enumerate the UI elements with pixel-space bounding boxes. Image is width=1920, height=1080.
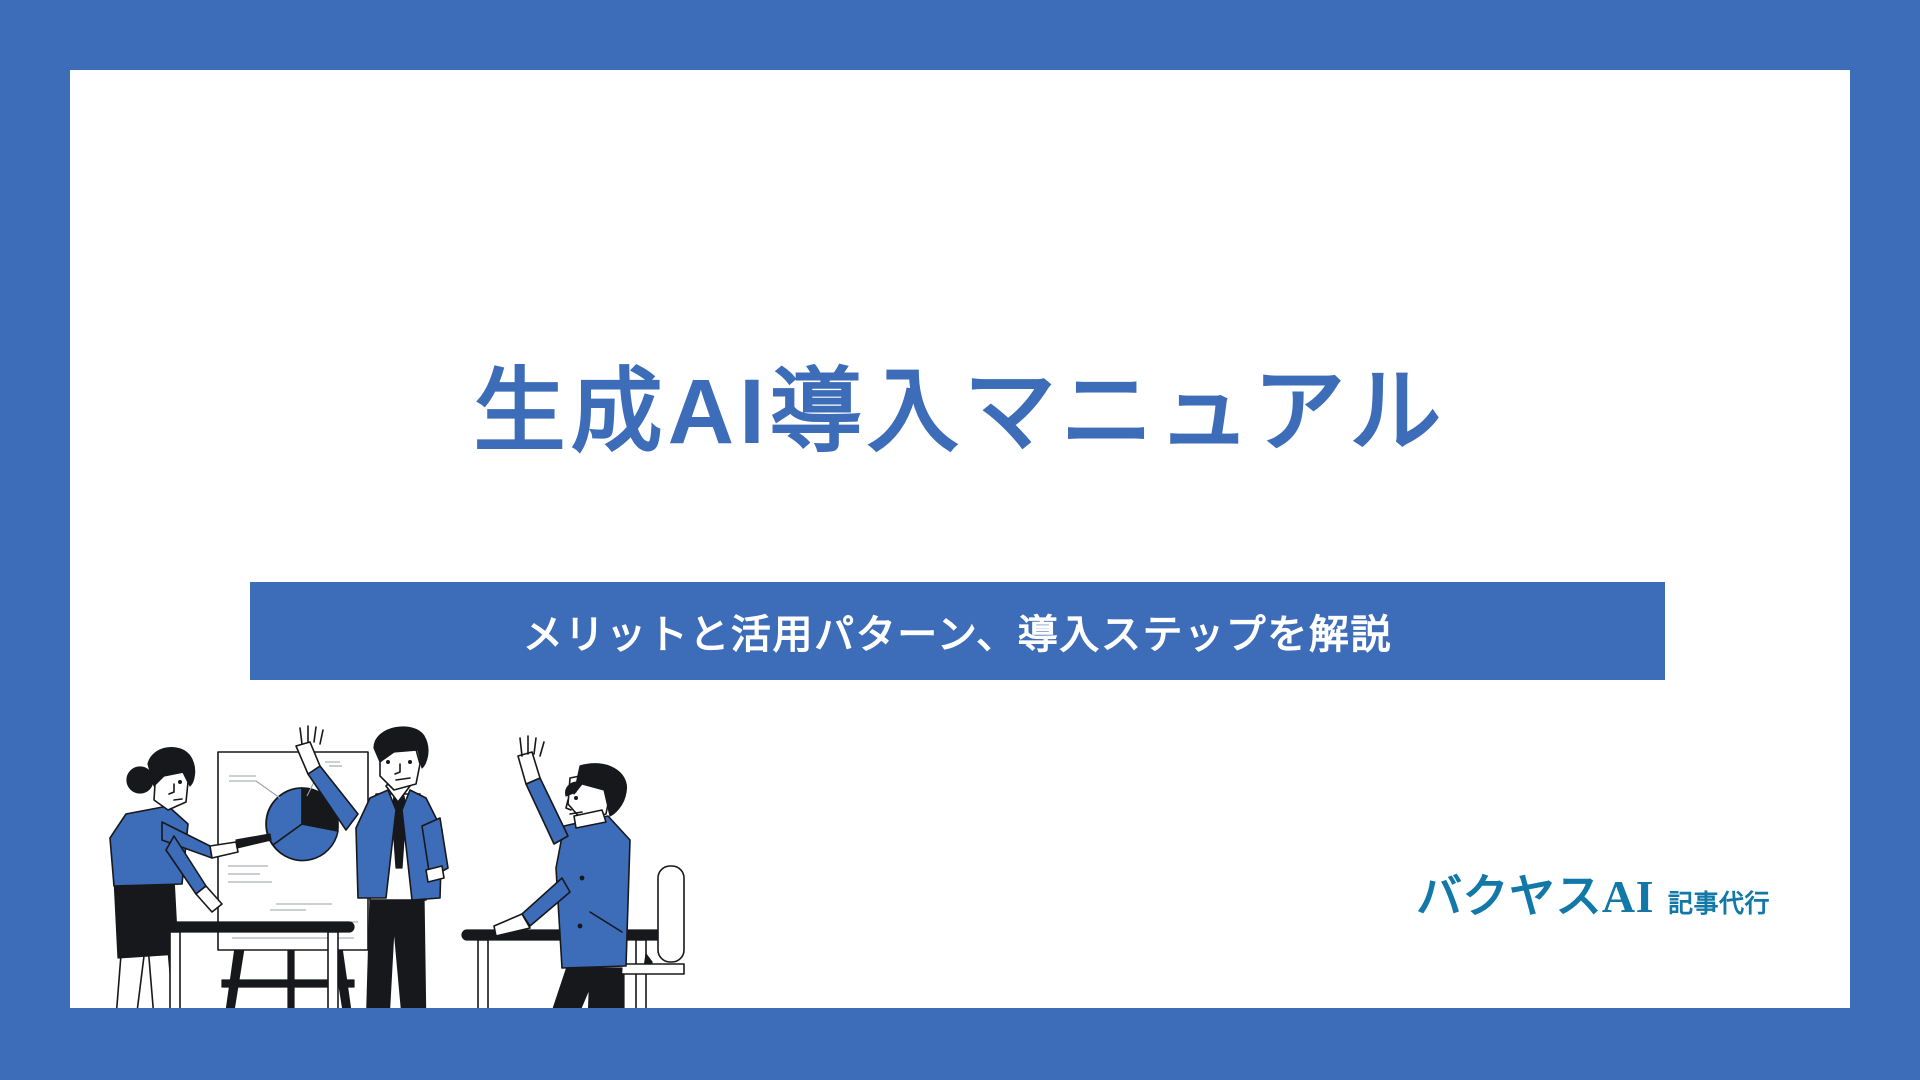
logo-secondary-text: 記事代行	[1668, 884, 1770, 920]
seated-person-raising-hand	[494, 736, 630, 1008]
illustration-svg: .ink { fill:none; stroke:#17181c; stroke…	[70, 718, 790, 1008]
easel-board-with-pie-chart	[218, 752, 368, 1008]
slide-root: 生成AI導入マニュアル メリットと活用パターン、導入ステップを解説 バクヤスAI…	[0, 0, 1920, 1080]
page-title: 生成AI導入マニュアル	[70, 366, 1850, 458]
slide-canvas: 生成AI導入マニュアル メリットと活用パターン、導入ステップを解説 バクヤスAI…	[70, 70, 1850, 1008]
subtitle-band: メリットと活用パターン、導入ステップを解説	[250, 582, 1665, 680]
logo-primary-text: バクヤスAI	[1416, 860, 1654, 926]
brand-logo: バクヤスAI 記事代行	[1416, 860, 1770, 926]
business-presentation-illustration: .ink { fill:none; stroke:#17181c; stroke…	[70, 718, 790, 1008]
subtitle-text: メリットと活用パターン、導入ステップを解説	[523, 602, 1392, 660]
